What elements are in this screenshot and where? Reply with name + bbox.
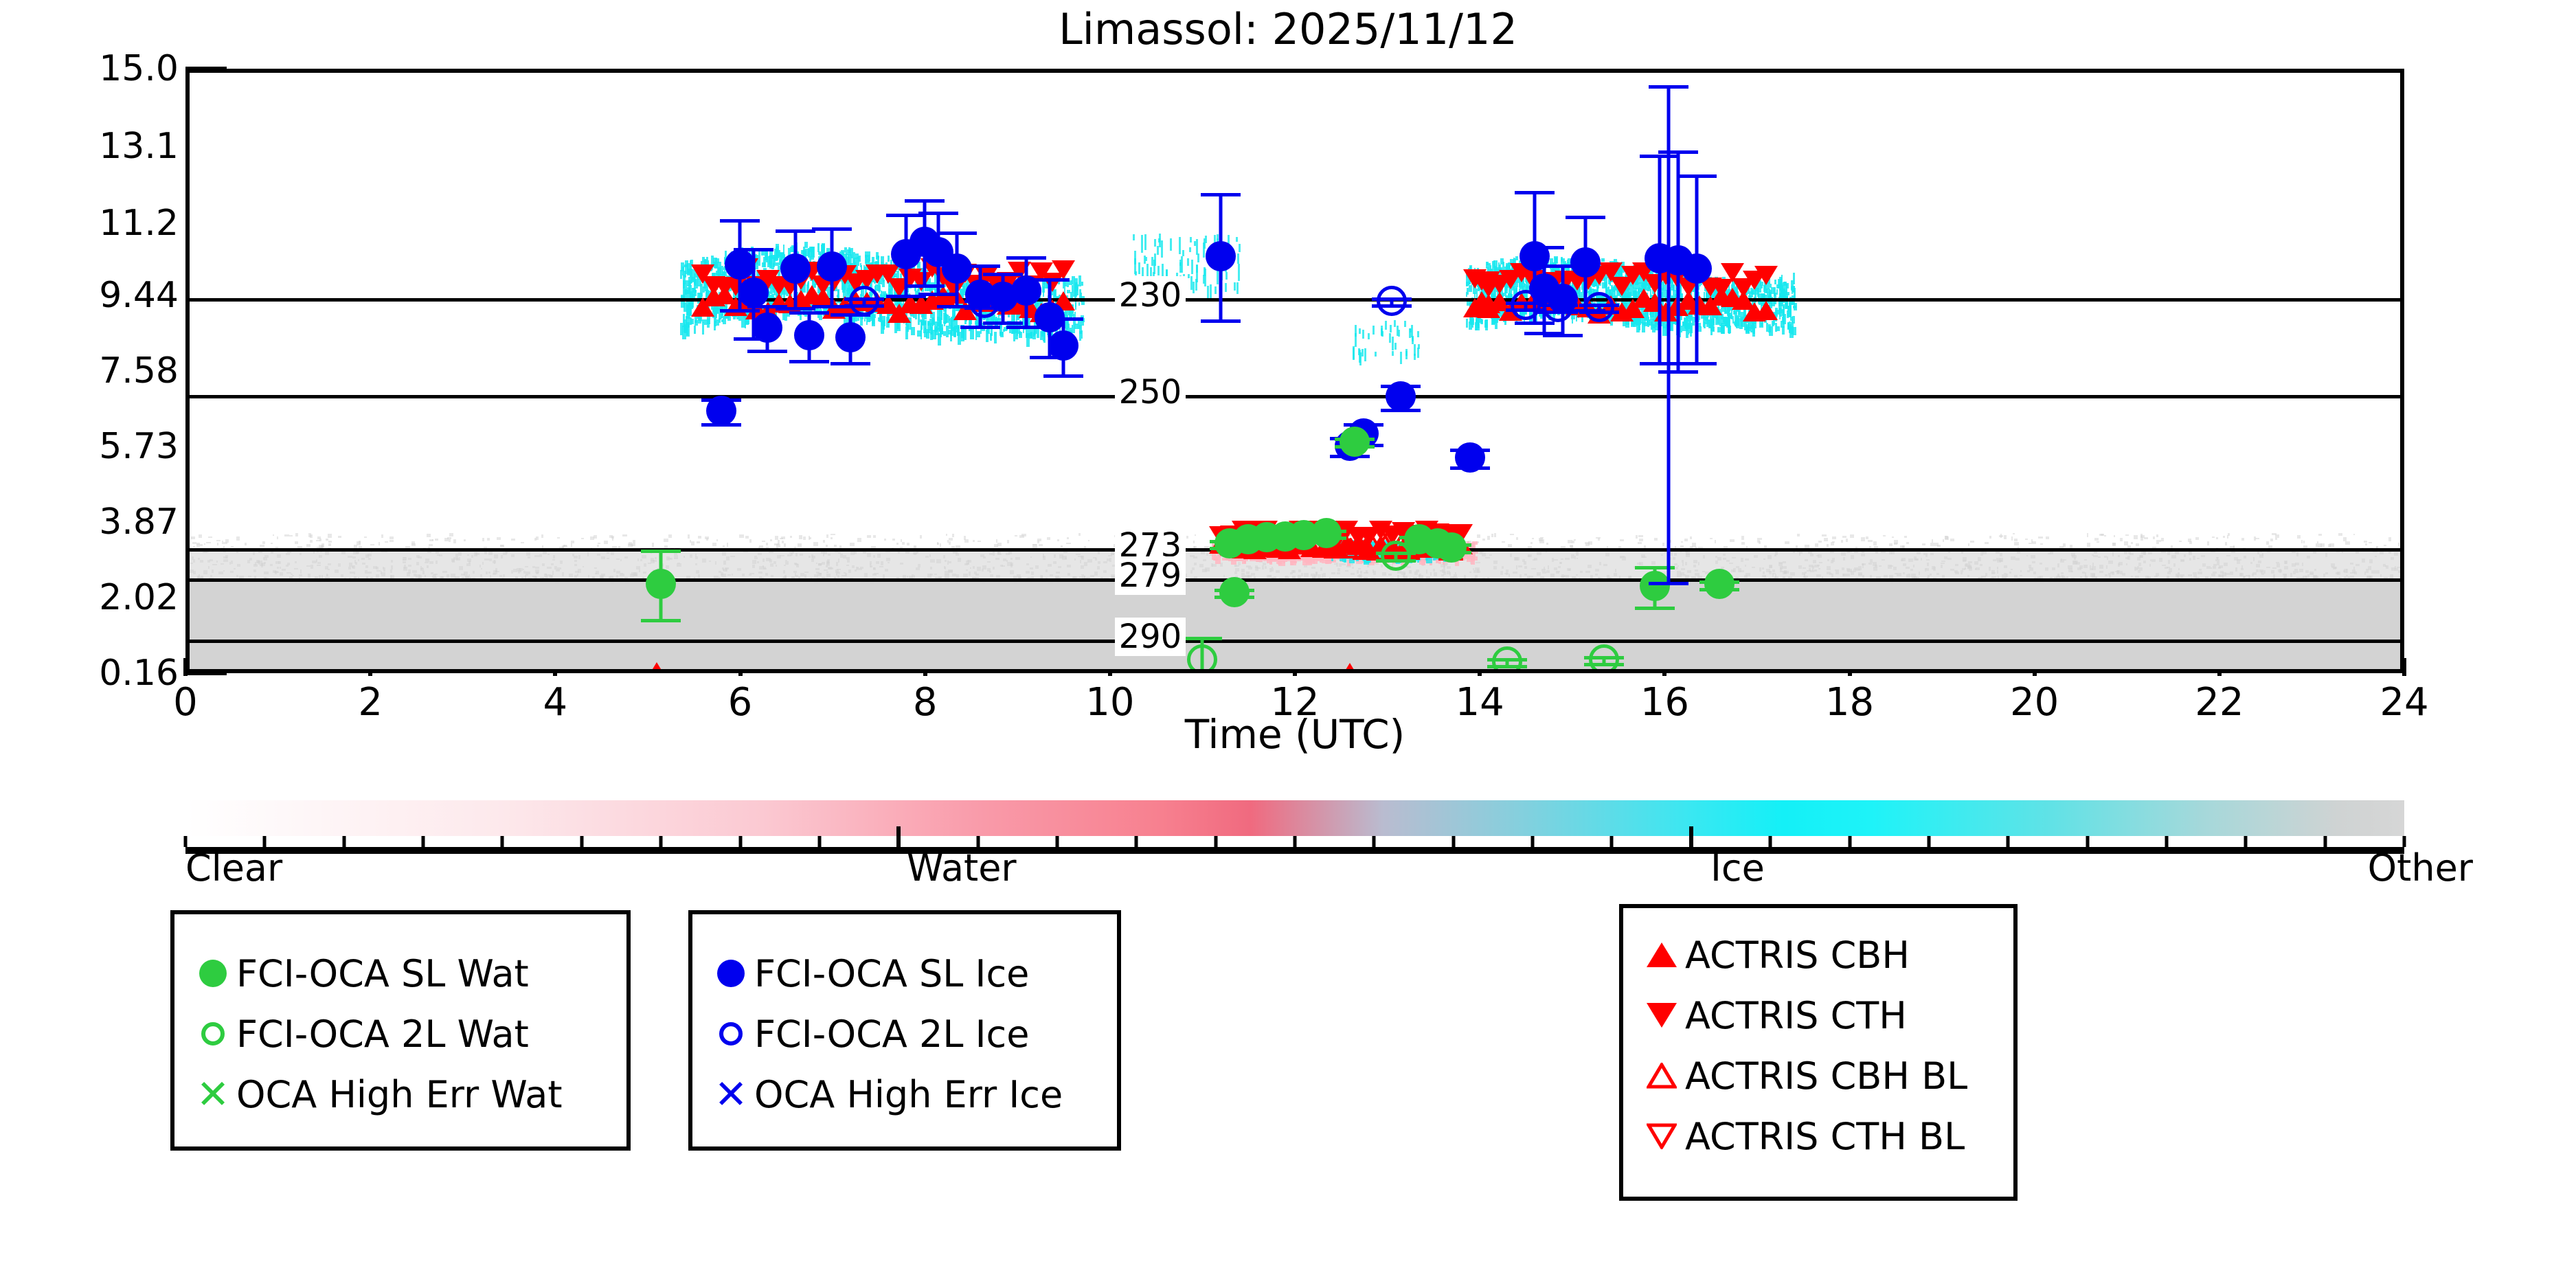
bl-speckle	[2399, 576, 2404, 578]
y-tick-label-5: 5.73	[7, 426, 179, 467]
x-tick-label-2: 4	[543, 680, 568, 725]
bl-speckle	[2404, 572, 2404, 574]
bl-speckle	[2402, 562, 2404, 565]
x-tick-label-5: 10	[1085, 680, 1134, 725]
x-tick-label-9: 18	[1825, 680, 1874, 725]
y-tick-label-2: 11.2	[7, 203, 179, 244]
x-tick-label-10: 20	[2010, 680, 2059, 725]
y-tick-label-6: 3.87	[7, 501, 179, 543]
y-tick-label-0: 15.0	[7, 48, 179, 89]
x-tick-label-4: 8	[913, 680, 938, 725]
bl-speckle	[2402, 580, 2404, 583]
x-tick-label-7: 14	[1456, 680, 1504, 725]
x-tick-label-0: 0	[173, 680, 198, 725]
x-tick-label-1: 2	[358, 680, 383, 725]
y-tick-label-4: 7.58	[7, 350, 179, 392]
x-tick-label-6: 12	[1270, 680, 1319, 725]
y-tick-label-3: 9.44	[7, 275, 179, 316]
page-title: Limassol: 2025/11/12	[0, 4, 2576, 54]
y-tick-label-8: 0.16	[7, 653, 179, 694]
x-tick-label-8: 16	[1640, 680, 1689, 725]
x-tick-label-11: 22	[2195, 680, 2244, 725]
bl-speckle	[2400, 552, 2402, 555]
x-tick-label-3: 6	[728, 680, 753, 725]
x-tick-label-12: 24	[2380, 680, 2428, 725]
y-tick-label-7: 2.02	[7, 577, 179, 618]
y-tick-label-1: 13.1	[7, 126, 179, 167]
plot-area	[185, 69, 2404, 673]
